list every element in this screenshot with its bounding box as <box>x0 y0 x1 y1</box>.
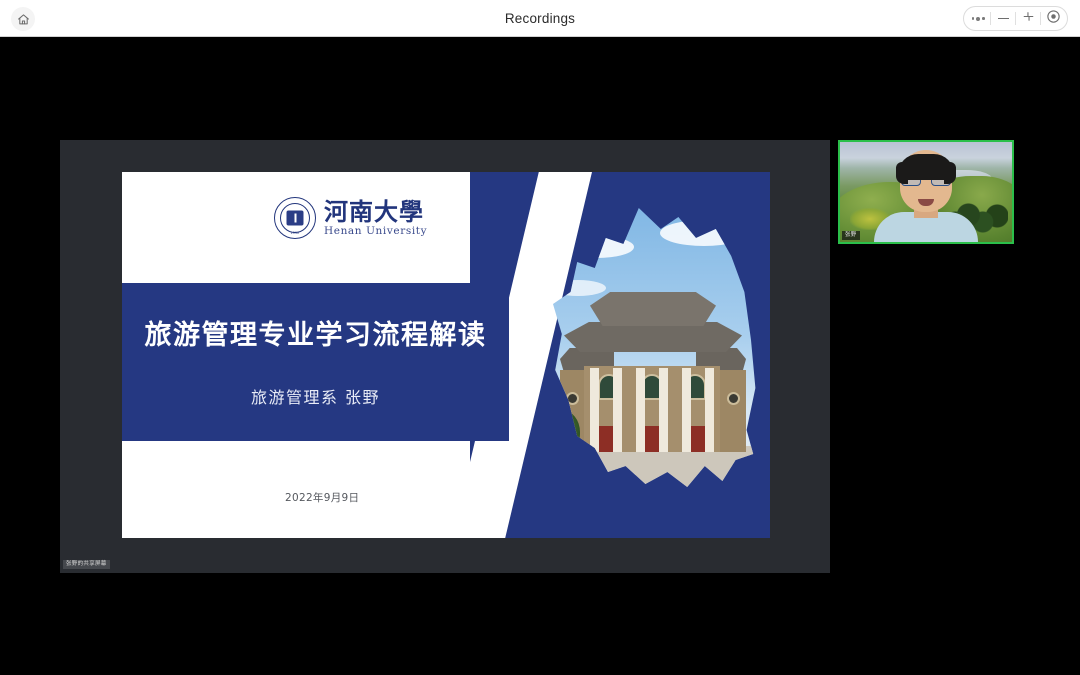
photo-building <box>560 274 746 452</box>
presentation-slide: 1912 河南大學 Henan University 旅游管理专业学习流程解读 … <box>122 172 770 538</box>
record-dot-icon <box>1046 9 1061 29</box>
university-seal-icon: 1912 <box>274 197 316 239</box>
slide-subtitle: 旅游管理系 张野 <box>251 384 380 408</box>
participant-video-tile[interactable]: 张野 <box>838 140 1014 244</box>
more-options-button[interactable] <box>966 7 990 30</box>
logo-name-en: Henan University <box>324 225 427 238</box>
building-colonnade <box>590 368 714 452</box>
logo-text: 河南大學 Henan University <box>324 199 427 238</box>
participant-avatar <box>874 156 978 242</box>
building-column <box>590 368 599 452</box>
share-label: 张野的共享屏幕 <box>63 560 110 569</box>
building-column <box>613 368 622 452</box>
window-controls <box>963 6 1068 31</box>
meeting-stage: 张野的共享屏幕 1912 河南大學 Henan University 旅游管理专 <box>0 37 1080 675</box>
slide-title-band: 旅游管理专业学习流程解读 旅游管理系 张野 <box>122 283 509 441</box>
building-roof-main <box>564 322 742 352</box>
title-bar: Recordings <box>0 0 1080 37</box>
seal-emblem <box>287 211 304 226</box>
building-wing-right <box>718 370 746 452</box>
collapse-button[interactable] <box>1016 7 1040 30</box>
record-button[interactable] <box>1041 7 1065 30</box>
ellipsis-icon <box>972 17 985 21</box>
participant-name-label: 张野 <box>842 231 860 240</box>
building-column <box>705 368 714 452</box>
building-column <box>659 368 668 452</box>
building-oculus <box>727 392 740 405</box>
slide-title: 旅游管理专业学习流程解读 <box>145 313 487 352</box>
building-column <box>682 368 691 452</box>
app-window: Recordings <box>0 0 1080 675</box>
seal-year: 1912 <box>291 231 300 235</box>
window-title: Recordings <box>0 0 1080 37</box>
collapse-arrows-icon <box>1022 10 1035 28</box>
slide-date: 2022年9月9日 <box>285 490 359 505</box>
minus-icon <box>998 18 1009 20</box>
participant-hair <box>898 154 954 180</box>
logo-name-cn: 河南大學 <box>324 199 427 225</box>
building-roof-upper <box>590 292 716 326</box>
building-column <box>636 368 645 452</box>
minimize-button[interactable] <box>991 7 1015 30</box>
university-logo: 1912 河南大學 Henan University <box>274 197 427 239</box>
